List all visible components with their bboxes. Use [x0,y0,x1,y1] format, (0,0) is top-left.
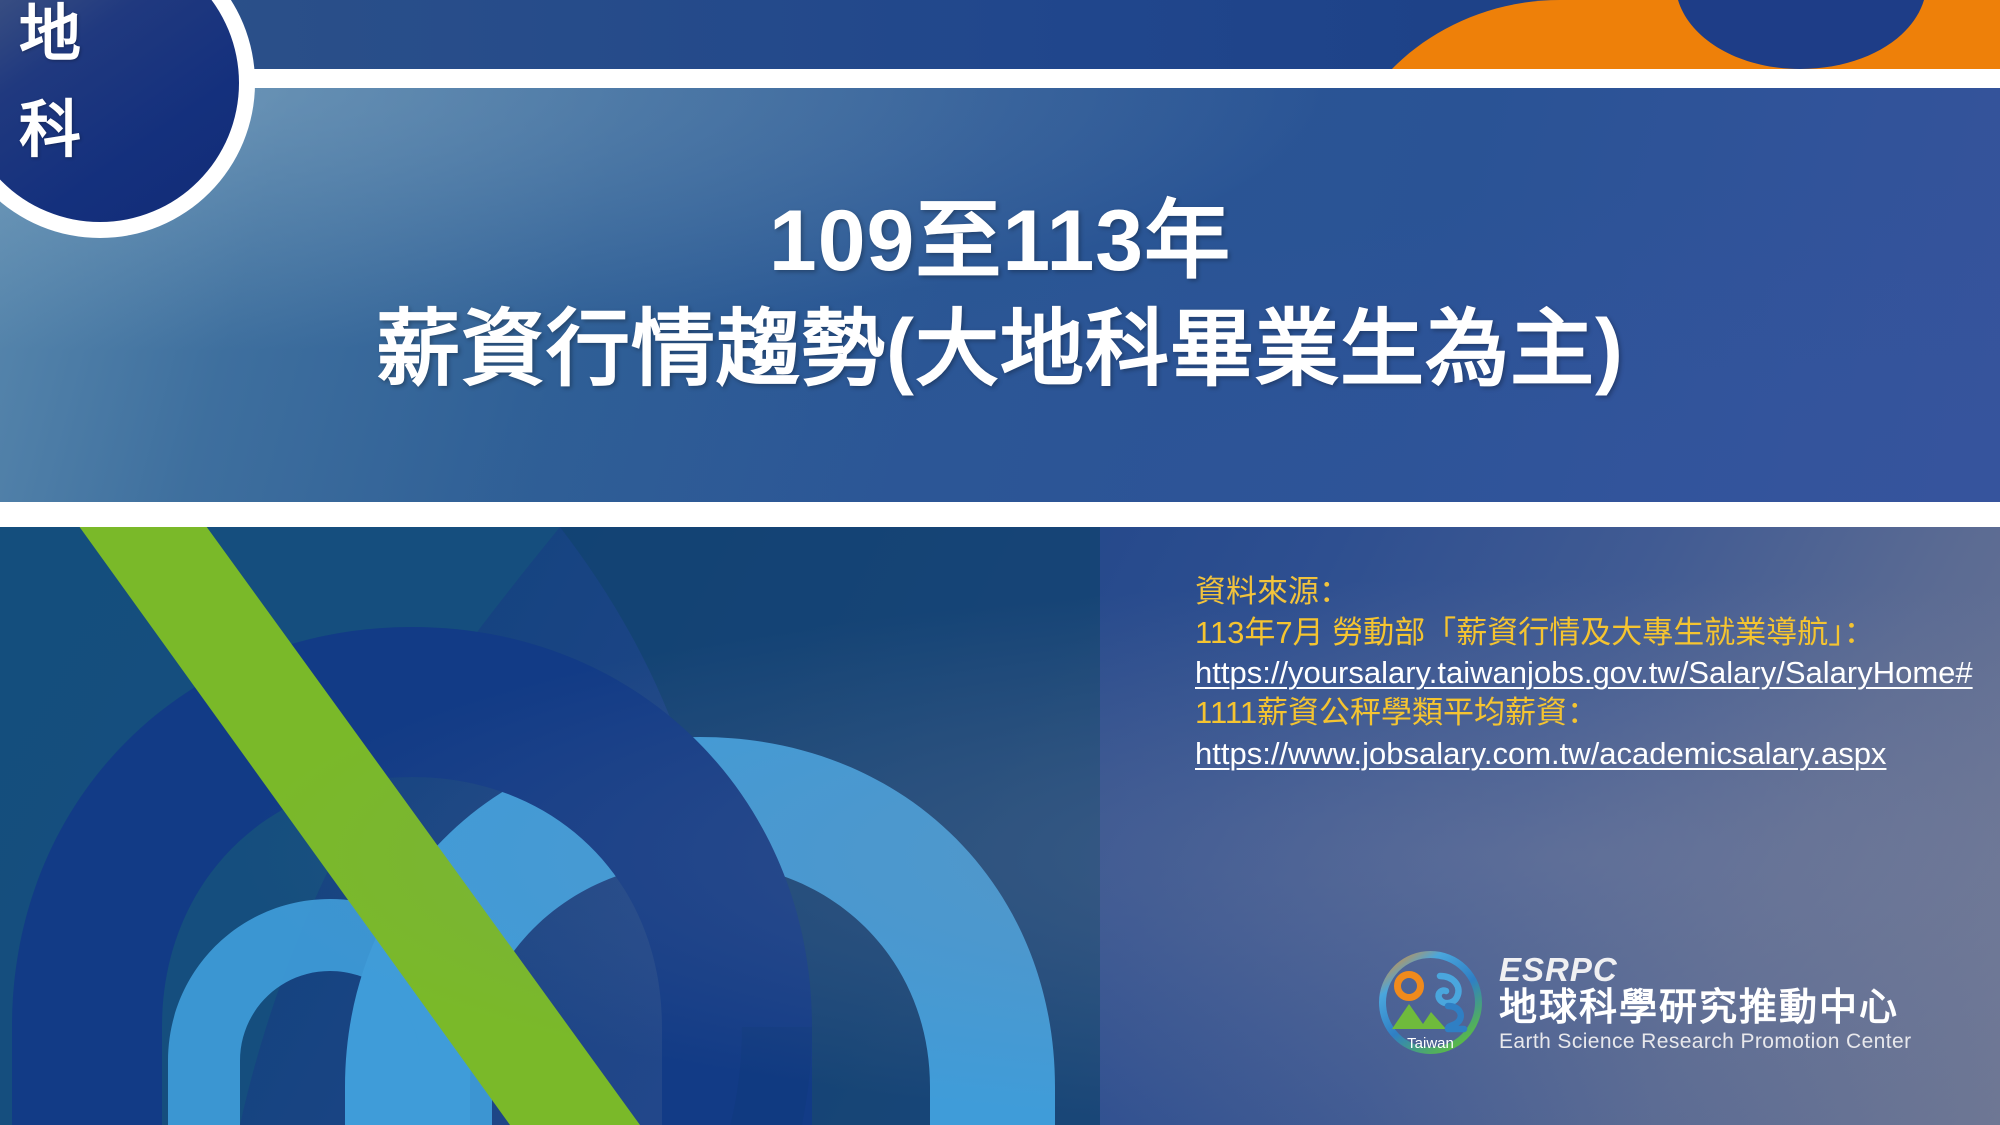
source-item1-link[interactable]: https://yoursalary.taiwanjobs.gov.tw/Sal… [1195,653,1990,693]
page-title-line1: 109至113年 [769,186,1231,296]
white-divider-top [0,69,2000,88]
source-reference-block: 資料來源： 113年7月 勞動部「薪資行情及大專生就業導航」： https://… [1195,572,1990,774]
title-banner: 109至113年 薪資行情趨勢(大地科畢業生為主) [0,88,2000,502]
page-title-line2: 薪資行情趨勢(大地科畢業生為主) [376,296,1624,404]
badge-char-1: 地 [19,0,81,83]
corner-badge: 地 科 [0,0,255,238]
badge-char-2: 科 [19,83,81,179]
top-orange-shape-svg [0,0,2000,69]
white-divider-middle [0,502,2000,527]
slide-canvas: 109至113年 薪資行情趨勢(大地科畢業生為主) [0,0,2000,1125]
esrpc-logo-mark-icon: Taiwan [1378,950,1483,1055]
abstract-decoration-group [0,527,1100,1125]
logo-mark-taiwan-label: Taiwan [1407,1035,1454,1052]
source-heading: 資料來源： [1195,572,1990,613]
globe-mountain-spiral-icon: Taiwan [1378,950,1483,1055]
source-item2-label: 1111薪資公秤學類平均薪資： [1195,693,1990,734]
source-item2-link[interactable]: https://www.jobsalary.com.tw/academicsal… [1195,734,1990,774]
esrpc-logo-text: ESRPC 地球科學研究推動中心 Earth Science Research … [1499,953,1911,1052]
top-decorative-strip [0,0,2000,69]
title-text-group: 109至113年 薪資行情趨勢(大地科畢業生為主) [0,88,2000,502]
source-item1-label: 113年7月 勞動部「薪資行情及大專生就業導航」： [1195,613,1990,654]
abstract-shapes-svg [0,527,1100,1125]
logo-acronym: ESRPC [1499,953,1911,986]
logo-name-zh: 地球科學研究推動中心 [1499,989,1911,1027]
badge-character-group: 地 科 [0,0,239,222]
logo-name-en: Earth Science Research Promotion Center [1499,1031,1911,1052]
esrpc-logo: Taiwan ESRPC 地球科學研究推動中心 Earth Science Re… [1378,950,1911,1055]
